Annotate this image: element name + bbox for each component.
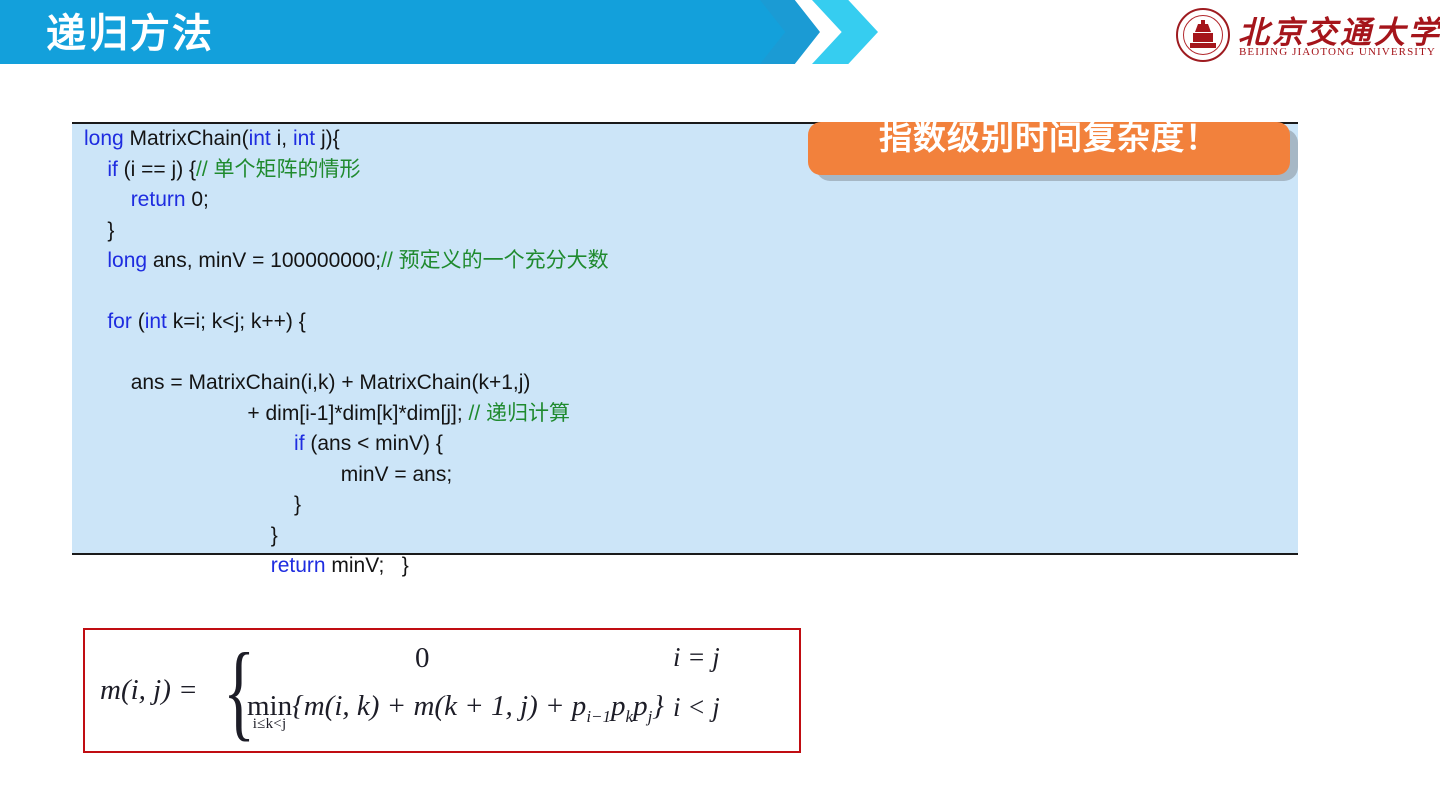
formula-case2-value: min i≤k<j {m(i, k) + m(k + 1, j) + pi−1p… bbox=[247, 690, 664, 727]
code-keyword: long bbox=[107, 249, 147, 272]
code-indent bbox=[84, 524, 271, 547]
code-indent bbox=[84, 432, 294, 455]
code-keyword: for bbox=[107, 310, 132, 333]
code-keyword: return bbox=[131, 188, 186, 211]
code-line: } bbox=[84, 490, 1294, 521]
formula-case2-condition: i < j bbox=[673, 692, 720, 723]
code-indent bbox=[84, 310, 107, 333]
code-text: ans, minV = 100000000; bbox=[147, 249, 381, 272]
code-line: return minV; } bbox=[84, 551, 1294, 582]
code-text: ans = MatrixChain(i,k) + MatrixChain(k+1… bbox=[131, 371, 531, 394]
code-listing: long MatrixChain(int i, int j){ if (i ==… bbox=[84, 124, 1294, 582]
code-text: i, bbox=[271, 127, 293, 150]
code-text: 0; bbox=[186, 188, 209, 211]
code-text: } bbox=[294, 493, 301, 516]
code-indent bbox=[84, 554, 271, 577]
code-text: minV = ans; bbox=[341, 463, 452, 486]
code-indent bbox=[84, 188, 131, 211]
code-keyword: if bbox=[107, 158, 118, 181]
formula-box: m(i, j) = { 0 i = j min i≤k<j {m(i, k) +… bbox=[83, 628, 801, 753]
formula-case1-condition: i = j bbox=[673, 642, 720, 673]
code-keyword: int bbox=[145, 310, 167, 333]
code-keyword: return bbox=[271, 554, 326, 577]
formula-case1-value: 0 bbox=[415, 642, 430, 675]
code-line: } bbox=[84, 521, 1294, 552]
code-text: (i == j) { bbox=[118, 158, 196, 181]
code-line: long ans, minV = 100000000;// 预定义的一个充分大数 bbox=[84, 246, 1294, 277]
code-comment: // 单个矩阵的情形 bbox=[196, 158, 361, 181]
code-text: + dim[i-1]*dim[k]*dim[j]; bbox=[247, 402, 468, 425]
code-text: } bbox=[271, 524, 278, 547]
code-line bbox=[84, 277, 1294, 308]
code-line: minV = ans; bbox=[84, 460, 1294, 491]
code-text: (ans < minV) { bbox=[305, 432, 443, 455]
university-seal-icon bbox=[1176, 8, 1230, 62]
formula-lhs: m(i, j) = bbox=[100, 674, 198, 707]
code-line: + dim[i-1]*dim[k]*dim[j]; // 递归计算 bbox=[84, 399, 1294, 430]
code-line: ans = MatrixChain(i,k) + MatrixChain(k+1… bbox=[84, 368, 1294, 399]
code-text: } bbox=[107, 219, 114, 242]
formula-subscript-i-1: i−1 bbox=[586, 707, 611, 726]
formula-case2-body: {m(i, k) + m(k + 1, j) + p bbox=[292, 690, 586, 722]
code-indent bbox=[84, 158, 107, 181]
code-text: minV; } bbox=[326, 554, 409, 577]
code-line: } bbox=[84, 216, 1294, 247]
code-text: ( bbox=[132, 310, 145, 333]
university-logo: 北京交通大学 BEIJING JIAOTONG UNIVERSITY bbox=[1176, 5, 1396, 65]
code-indent bbox=[84, 463, 341, 486]
code-indent bbox=[84, 249, 107, 272]
code-indent bbox=[84, 219, 107, 242]
formula-min-operator: min i≤k<j bbox=[247, 690, 292, 723]
code-comment: // 递归计算 bbox=[469, 402, 571, 425]
code-line bbox=[84, 338, 1294, 369]
code-keyword: int bbox=[249, 127, 271, 150]
code-indent bbox=[84, 402, 247, 425]
recurrence-formula: m(i, j) = { 0 i = j min i≤k<j {m(i, k) +… bbox=[85, 630, 799, 751]
code-keyword: if bbox=[294, 432, 305, 455]
code-text: k=i; k<j; k++) { bbox=[167, 310, 306, 333]
formula-p-k: p bbox=[611, 690, 626, 722]
code-keyword: int bbox=[293, 127, 315, 150]
formula-case2-close: } bbox=[652, 690, 664, 722]
code-text: MatrixChain( bbox=[124, 127, 249, 150]
formula-subscript-k: k bbox=[626, 707, 634, 726]
university-name-en: BEIJING JIAOTONG UNIVERSITY bbox=[1239, 46, 1436, 58]
callout-label: 指数级别时间复杂度！ bbox=[808, 114, 1290, 162]
formula-p-j: p bbox=[633, 690, 648, 722]
code-keyword: long bbox=[84, 127, 124, 150]
seal-emblem-icon bbox=[1186, 19, 1220, 51]
code-indent bbox=[84, 493, 294, 516]
code-indent bbox=[84, 371, 131, 394]
code-line: return 0; bbox=[84, 185, 1294, 216]
code-line: if (ans < minV) { bbox=[84, 429, 1294, 460]
code-comment: // 预定义的一个充分大数 bbox=[381, 249, 609, 272]
formula-min-subscript: i≤k<j bbox=[247, 716, 292, 733]
page-title: 递归方法 bbox=[46, 8, 214, 60]
code-text: j){ bbox=[315, 127, 340, 150]
code-line: for (int k=i; k<j; k++) { bbox=[84, 307, 1294, 338]
chevron-right-accent-icon bbox=[812, 0, 878, 64]
